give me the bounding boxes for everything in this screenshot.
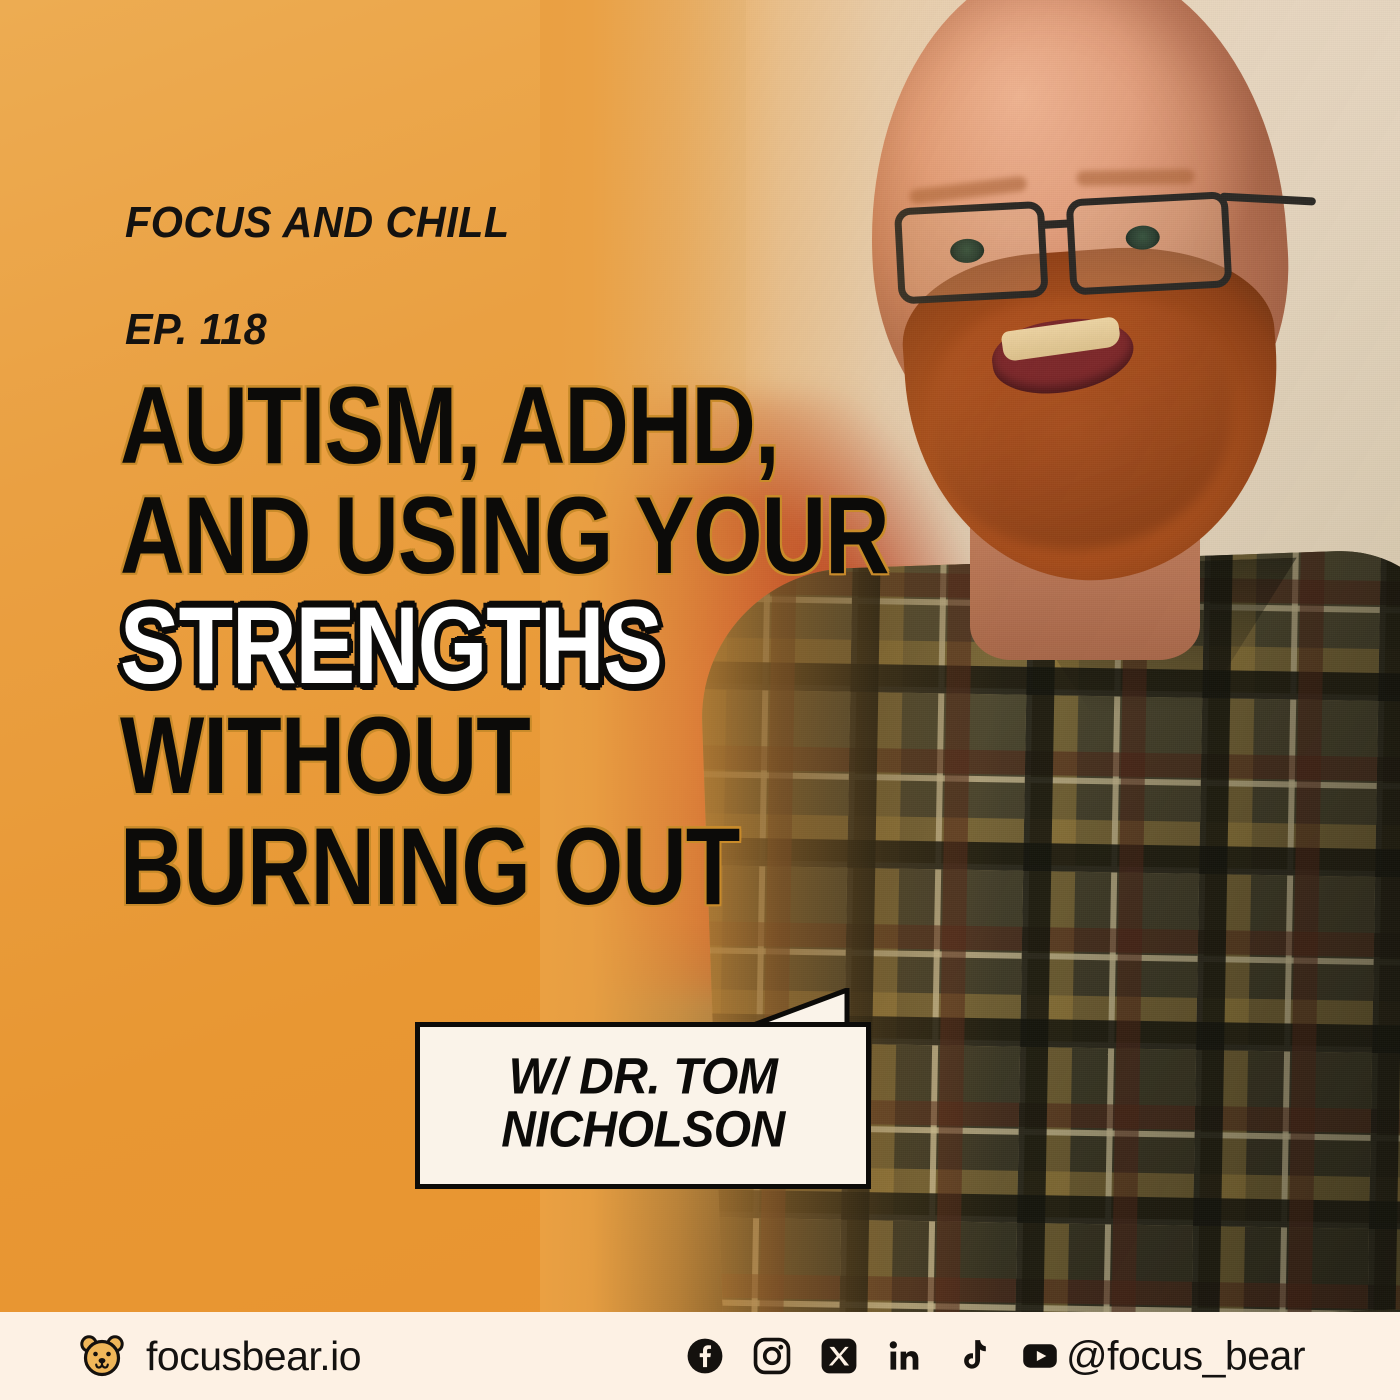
show-name: FOCUS AND CHILL bbox=[125, 196, 510, 250]
brand-block[interactable]: focusbear.io bbox=[78, 1332, 361, 1380]
title-line-3-highlight: STRENGTHS bbox=[120, 592, 965, 700]
guest-name-box: W/ DR. TOM NICHOLSON bbox=[415, 1022, 871, 1189]
guest-callout: W/ DR. TOM NICHOLSON bbox=[410, 988, 880, 1198]
episode-title: AUTISM, ADHD, AND USING YOUR STRENGTHS W… bbox=[120, 372, 1000, 923]
title-line-5: BURNING OUT bbox=[120, 813, 965, 921]
title-line-2: AND USING YOUR bbox=[120, 482, 965, 590]
youtube-icon[interactable] bbox=[1021, 1337, 1059, 1375]
instagram-icon[interactable] bbox=[753, 1337, 791, 1375]
guest-name: W/ DR. TOM NICHOLSON bbox=[501, 1050, 785, 1160]
x-twitter-icon[interactable] bbox=[820, 1337, 858, 1375]
website-label[interactable]: focusbear.io bbox=[146, 1333, 361, 1380]
linkedin-icon[interactable] bbox=[887, 1337, 925, 1375]
podcast-cover: FOCUS AND CHILL EP. 118 AUTISM, ADHD, AN… bbox=[0, 0, 1400, 1400]
tiktok-icon[interactable] bbox=[954, 1337, 992, 1375]
social-icon-row bbox=[686, 1337, 1059, 1375]
facebook-icon[interactable] bbox=[686, 1337, 724, 1375]
episode-number: EP. 118 bbox=[125, 303, 510, 357]
footer-bar: focusbear.io bbox=[0, 1312, 1400, 1400]
social-handle[interactable]: @focus_bear bbox=[1066, 1333, 1305, 1380]
title-line-1: AUTISM, ADHD, bbox=[120, 372, 965, 480]
title-line-4: WITHOUT bbox=[120, 702, 965, 810]
bear-icon bbox=[78, 1332, 126, 1380]
